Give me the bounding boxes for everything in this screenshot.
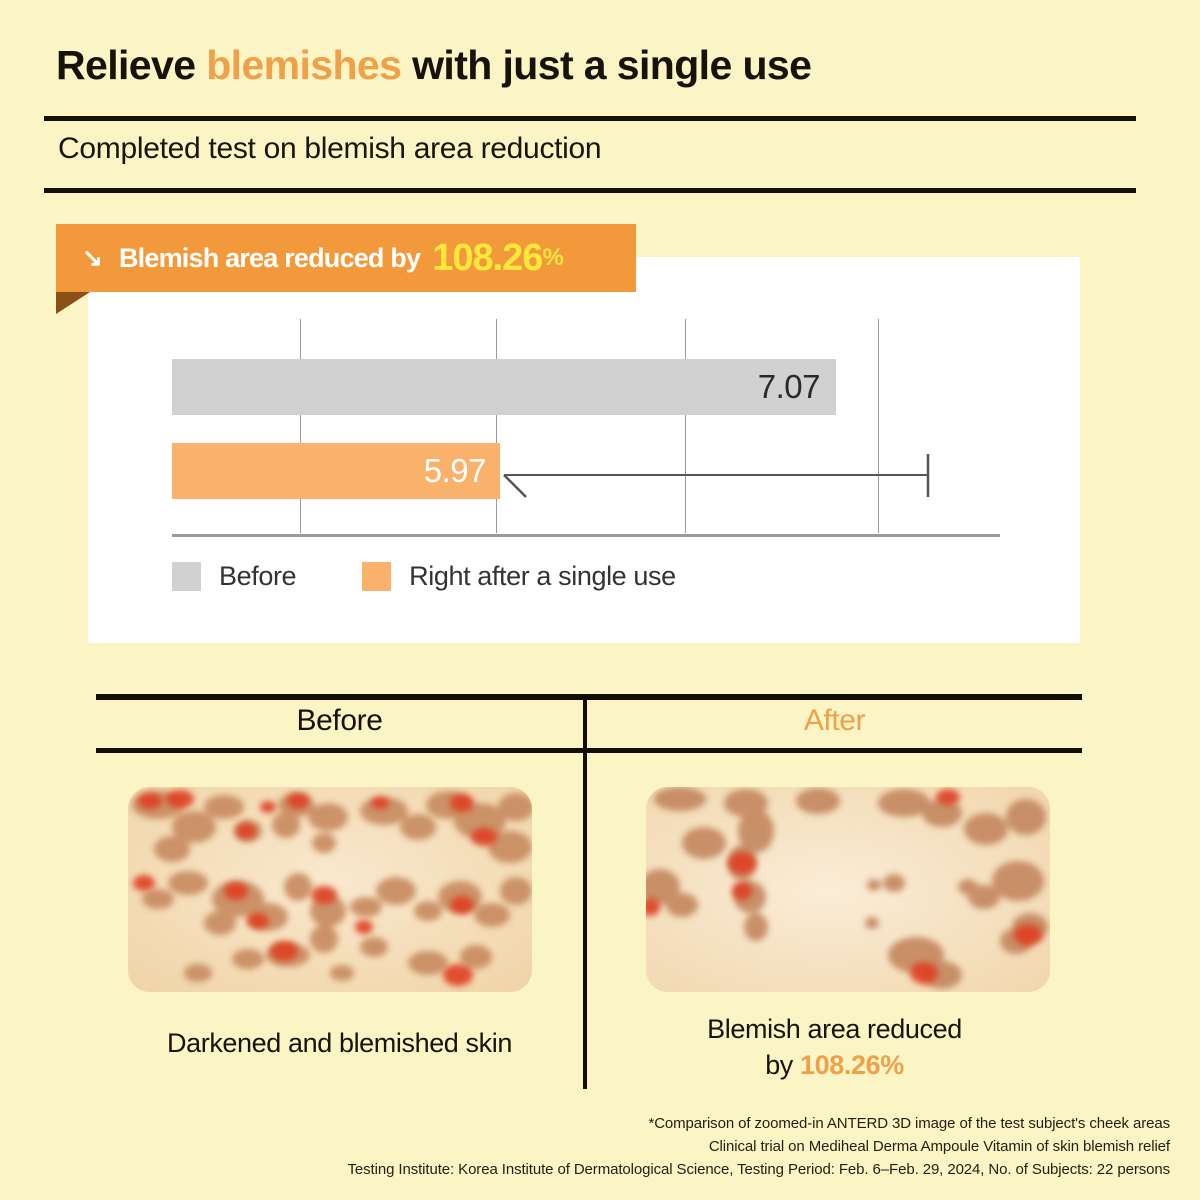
- headline-part-1: Relieve: [56, 42, 206, 88]
- divider-top: [44, 116, 1136, 121]
- caption-after-line2: by 108.26%: [587, 1048, 1082, 1084]
- ribbon-fold-decoration: [56, 292, 90, 314]
- caption-after-line1: Blemish area reduced: [587, 1012, 1082, 1048]
- caption-before: Darkened and blemished skin: [96, 1026, 583, 1062]
- down-right-arrow-icon: ↘: [82, 246, 103, 271]
- bar-before-value-label: 7.07: [758, 368, 820, 406]
- footnotes: *Comparison of zoomed-in ANTERD 3D image…: [348, 1113, 1171, 1181]
- caption-after-percent: 108.26%: [800, 1050, 904, 1080]
- reduction-callout-ribbon: ↘ Blemish area reduced by 108.26%: [56, 224, 636, 292]
- legend-label-after: Right after a single use: [409, 561, 676, 592]
- comparison-divider-top: [96, 694, 1082, 700]
- legend-item-after: Right after a single use: [362, 561, 676, 592]
- chart-card: 7.07 5.97 Before Right after a single us…: [88, 257, 1080, 643]
- legend-swatch-after-icon: [362, 562, 391, 591]
- gridline-1: [300, 319, 301, 533]
- ribbon-percent-value: 108.26: [432, 237, 542, 280]
- axis-baseline: [172, 534, 1000, 537]
- headline-accent-word: blemishes: [206, 42, 401, 88]
- reduction-arrow-annotation: [496, 445, 946, 505]
- legend-swatch-before-icon: [172, 562, 201, 591]
- section-subtitle: Completed test on blemish area reduction: [58, 132, 601, 166]
- skin-image-before: [128, 787, 532, 992]
- ribbon-label: Blemish area reduced by: [119, 243, 420, 274]
- chart-legend: Before Right after a single use: [172, 561, 742, 592]
- footnote-line-2: Clinical trial on Mediheal Derma Ampoule…: [348, 1136, 1171, 1159]
- footnote-line-3: Testing Institute: Korea Institute of De…: [348, 1159, 1171, 1182]
- divider-under-subtitle: [44, 188, 1136, 193]
- legend-label-before: Before: [219, 561, 296, 592]
- comparison-header-before: Before: [96, 704, 583, 738]
- ribbon-percent-sign: %: [542, 244, 563, 272]
- skin-image-after: [646, 787, 1050, 992]
- page-title: Relieve blemishes with just a single use: [56, 42, 811, 89]
- bar-before: 7.07: [172, 359, 836, 415]
- headline-part-2: with just a single use: [401, 42, 811, 88]
- comparison-header-after: After: [587, 704, 1082, 738]
- bar-after: 5.97: [172, 443, 500, 499]
- footnote-line-1: *Comparison of zoomed-in ANTERD 3D image…: [348, 1113, 1171, 1136]
- caption-after-prefix: by: [765, 1050, 800, 1080]
- comparison-divider-mid: [96, 748, 1082, 753]
- legend-item-before: Before: [172, 561, 296, 592]
- bar-chart: 7.07 5.97 Before Right after a single us…: [88, 257, 1080, 643]
- bar-after-value-label: 5.97: [424, 452, 486, 490]
- caption-after: Blemish area reduced by 108.26%: [587, 1012, 1082, 1083]
